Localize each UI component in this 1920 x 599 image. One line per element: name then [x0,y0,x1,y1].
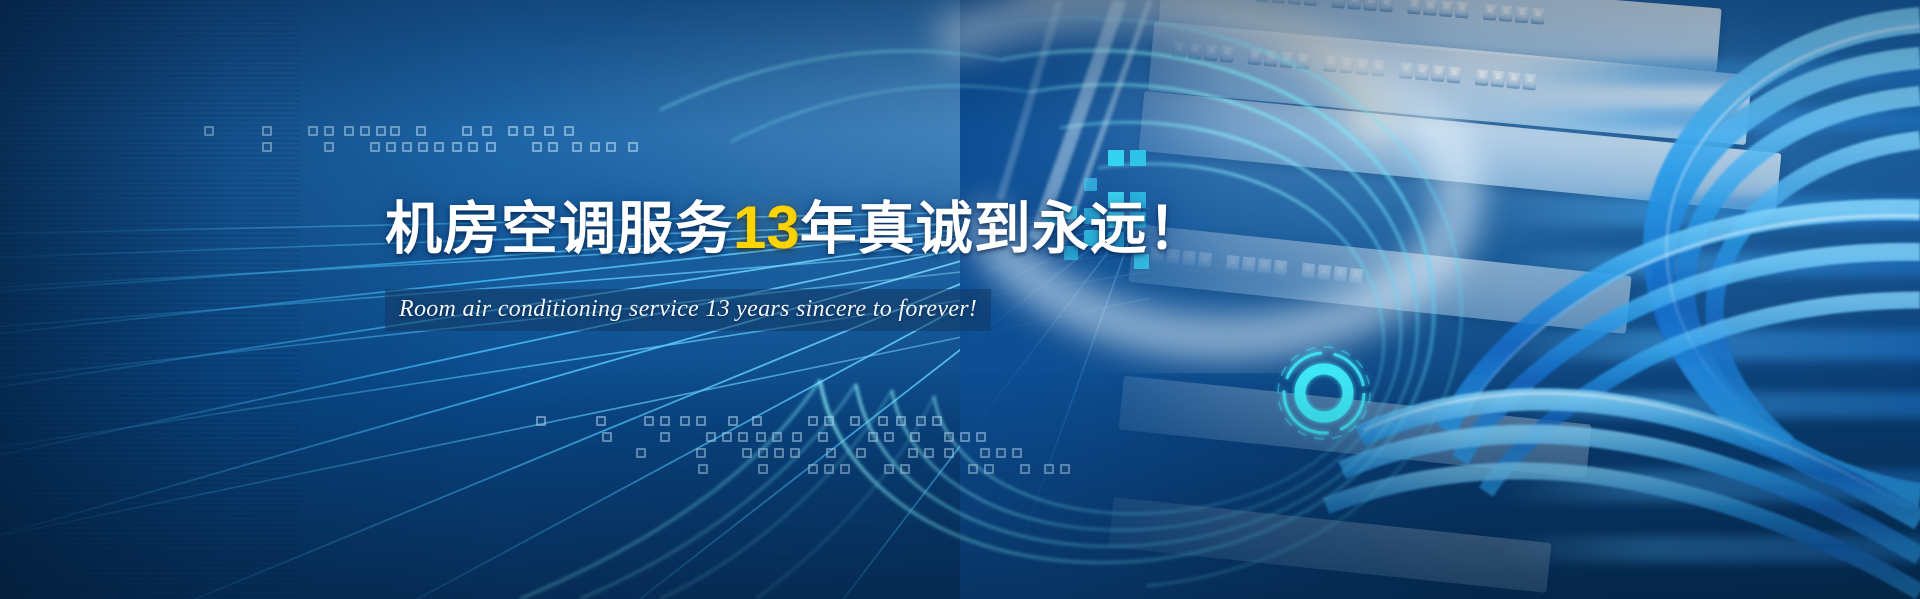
headline-part-1: 机房空调服务 [385,197,733,261]
square-outline [944,448,954,458]
square-outline [508,126,518,136]
square-outline [548,142,558,152]
square-outline [790,448,800,458]
square-outline [524,126,534,136]
square-outline [636,448,646,458]
square-outline [452,142,462,152]
square-outline [696,416,706,426]
square-outline [262,126,272,136]
square-outline [376,126,386,136]
square-outline [468,142,478,152]
outlined-square-pattern-top [190,120,690,165]
square-outline [758,464,768,474]
square-outline [774,448,784,458]
square-outline [960,432,970,442]
hero-banner: 机房空调服务13年真诚到永远！ Room air conditioning se… [0,0,1920,599]
square-outline [896,416,906,426]
square-outline [850,416,860,426]
square-outline [1044,464,1054,474]
square-outline [596,416,606,426]
square-outline [680,416,690,426]
square-outline [808,416,818,426]
square-outline [402,142,412,152]
square-outline [462,126,472,136]
square-outline [944,432,954,442]
square-outline [644,416,654,426]
square-outline [722,432,732,442]
square-outline [924,448,934,458]
square-outline [758,448,768,458]
square-outline [572,142,582,152]
square-outline [660,416,670,426]
square-outline [868,432,878,442]
square-outline [884,432,894,442]
square-outline [602,432,612,442]
square-outline [532,142,542,152]
square-outline [486,142,496,152]
square-outline [204,126,214,136]
hud-ring-icon [1268,337,1380,449]
square-outline [370,142,380,152]
square-outline [910,432,920,442]
headline-part-2: 年真诚到永远！ [800,197,1206,261]
square-outline [660,432,670,442]
square-outline [308,126,318,136]
square-outline [434,142,444,152]
square-outline [878,416,888,426]
square-outline [628,142,638,152]
square-outline [756,432,766,442]
square-outline [824,464,834,474]
square-outline [1060,464,1070,474]
square-outline [900,464,910,474]
pixel-block [1130,150,1146,166]
square-outline [262,142,272,152]
square-outline [996,448,1006,458]
square-outline [698,464,708,474]
square-outline [908,448,918,458]
square-outline [772,432,782,442]
square-outline [916,416,926,426]
square-outline [738,432,748,442]
square-outline [360,126,370,136]
headline-years-number: 13 [733,194,800,261]
square-outline [840,464,850,474]
square-outline [968,464,978,474]
square-outline [976,432,986,442]
square-outline [544,126,554,136]
square-outline [416,126,426,136]
square-outline [1020,464,1030,474]
square-outline [482,126,492,136]
square-outline [980,448,990,458]
square-outline [752,416,762,426]
square-outline [884,464,894,474]
square-outline [984,464,994,474]
pixel-block [1108,150,1124,166]
square-outline [1012,448,1022,458]
square-outline [826,448,836,458]
banner-copy: 机房空调服务13年真诚到永远！ Room air conditioning se… [385,196,1165,331]
square-outline [564,126,574,136]
square-outline [818,432,828,442]
headline: 机房空调服务13年真诚到永远！ [385,196,1165,260]
square-outline [590,142,600,152]
square-outline [536,416,546,426]
square-outline [390,126,400,136]
square-outline [808,464,818,474]
square-outline [418,142,428,152]
outlined-square-pattern-bottom [520,400,1100,475]
square-outline [324,142,334,152]
pixel-block [1084,178,1097,191]
square-outline [706,432,716,442]
square-outline [856,448,866,458]
square-outline [728,416,738,426]
square-outline [696,448,706,458]
square-outline [386,142,396,152]
square-outline [932,416,942,426]
square-outline [324,126,334,136]
square-outline [742,448,752,458]
square-outline [344,126,354,136]
subtitle-bar: Room air conditioning service 13 years s… [385,289,991,331]
square-outline [824,416,834,426]
square-outline [792,432,802,442]
subtitle: Room air conditioning service 13 years s… [399,296,977,322]
square-outline [606,142,616,152]
